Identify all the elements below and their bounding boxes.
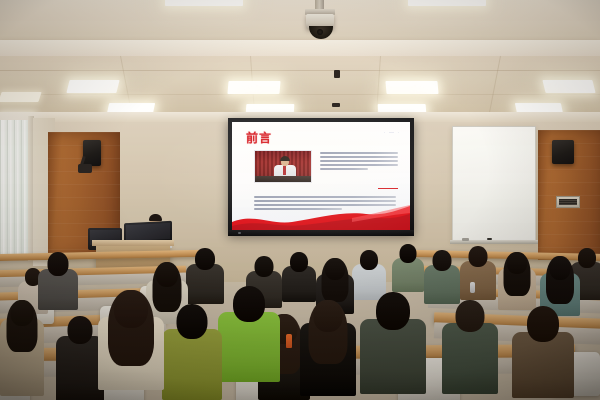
audience-member-torso	[162, 329, 222, 400]
audience-member	[442, 300, 498, 394]
slide-accent-rule	[378, 188, 398, 189]
display-bottom-bezel	[228, 230, 414, 236]
text-line	[320, 168, 368, 170]
podium-monitor-screen	[126, 223, 170, 241]
audience-member-head	[233, 286, 265, 322]
audience-member-head	[550, 256, 571, 280]
audience-member-head	[527, 306, 559, 342]
audience-member	[392, 244, 424, 292]
presentation-display[interactable]: 前言 · — ·	[228, 118, 414, 234]
audience-member	[300, 300, 356, 396]
wall-speaker-left	[83, 140, 101, 166]
slide-decoration-marks: · — ·	[384, 130, 400, 136]
audience-member-torso	[218, 312, 280, 382]
window-blind-slat	[17, 120, 22, 255]
ceiling-light-panel	[542, 80, 595, 93]
audience-member-head	[68, 316, 93, 344]
text-line	[254, 196, 396, 198]
slide-photo	[254, 150, 312, 183]
audience-member-head	[376, 292, 410, 330]
audience-member-torso	[360, 319, 426, 394]
audience-member	[424, 250, 460, 304]
whiteboard	[452, 126, 536, 241]
audience-member	[498, 252, 536, 310]
audience-member-head	[507, 252, 527, 274]
ceiling-light-panel	[165, 0, 243, 6]
audience-member-head	[48, 252, 69, 276]
photo-person-tie	[283, 166, 286, 175]
ceiling-light-panel	[0, 92, 42, 102]
audience-member-head	[156, 262, 178, 287]
audience-member-head	[433, 250, 452, 271]
water-bottle	[470, 282, 475, 293]
whiteboard-marker-icon	[487, 238, 492, 240]
photo-desk	[255, 176, 311, 182]
audience-member	[460, 246, 496, 300]
text-line	[254, 200, 396, 202]
audience-member-head	[469, 246, 488, 267]
audience-member	[512, 306, 574, 398]
ceiling-light-panel	[227, 81, 280, 94]
wall-vent	[556, 196, 580, 208]
audience-member-head	[11, 300, 34, 326]
slide-wave-graphic	[232, 204, 410, 230]
wall-speaker-right	[552, 140, 574, 164]
audience-member	[218, 286, 280, 382]
ceiling-far-section	[0, 0, 600, 42]
audience-member-head	[255, 256, 274, 277]
audience-member-head	[290, 252, 308, 272]
window-with-blinds	[0, 120, 30, 255]
window-blind-slat	[0, 120, 1, 255]
window-blind-slat	[10, 120, 15, 255]
ceiling-grid-line	[0, 70, 600, 71]
audience-member-head	[195, 248, 215, 270]
audience-member-head	[360, 250, 378, 270]
audience-member-torso	[392, 258, 424, 292]
slide-paragraph-primary	[320, 152, 398, 170]
text-line	[320, 164, 398, 166]
lectern-top-surface	[92, 240, 174, 246]
lecture-hall-photo: 前言 · — ·	[0, 0, 600, 400]
audience-member-head	[456, 300, 485, 332]
whiteboard-eraser-icon	[462, 238, 469, 241]
ceiling-light-panel	[408, 0, 486, 6]
audience-member-torso	[56, 336, 104, 400]
display-power-led-icon	[238, 232, 241, 234]
audience-member-head	[314, 300, 343, 332]
presenter-hair	[149, 214, 162, 221]
water-bottle	[286, 334, 292, 348]
ceiling-light-panel	[385, 81, 438, 94]
text-line	[320, 156, 398, 158]
ceiling-grid-line	[0, 94, 600, 95]
audience-member-torso	[442, 323, 498, 394]
audience-member	[56, 316, 104, 400]
audience-member	[282, 252, 316, 302]
text-line	[320, 152, 398, 154]
audience-member	[162, 304, 222, 400]
audience-member-head	[400, 244, 417, 263]
text-line	[320, 160, 398, 162]
audience-member	[98, 290, 164, 390]
audience-member-head	[578, 248, 596, 268]
ceiling-sensor-icon	[334, 70, 340, 78]
audience-member	[0, 300, 44, 396]
slide-title: 前言	[246, 129, 272, 146]
audience-member-head	[114, 290, 148, 328]
audience-member	[360, 292, 426, 394]
ceiling-sensor-icon	[332, 103, 340, 107]
ceiling-light-panel	[66, 80, 119, 93]
audience-member-head	[177, 304, 208, 339]
audience-member-head	[325, 258, 345, 280]
slide-canvas: 前言 · — ·	[232, 122, 410, 230]
audience-member	[38, 252, 78, 310]
photo-person-hair	[280, 156, 290, 161]
projector-lens-icon	[317, 29, 323, 35]
window-blind-slat	[3, 120, 8, 255]
